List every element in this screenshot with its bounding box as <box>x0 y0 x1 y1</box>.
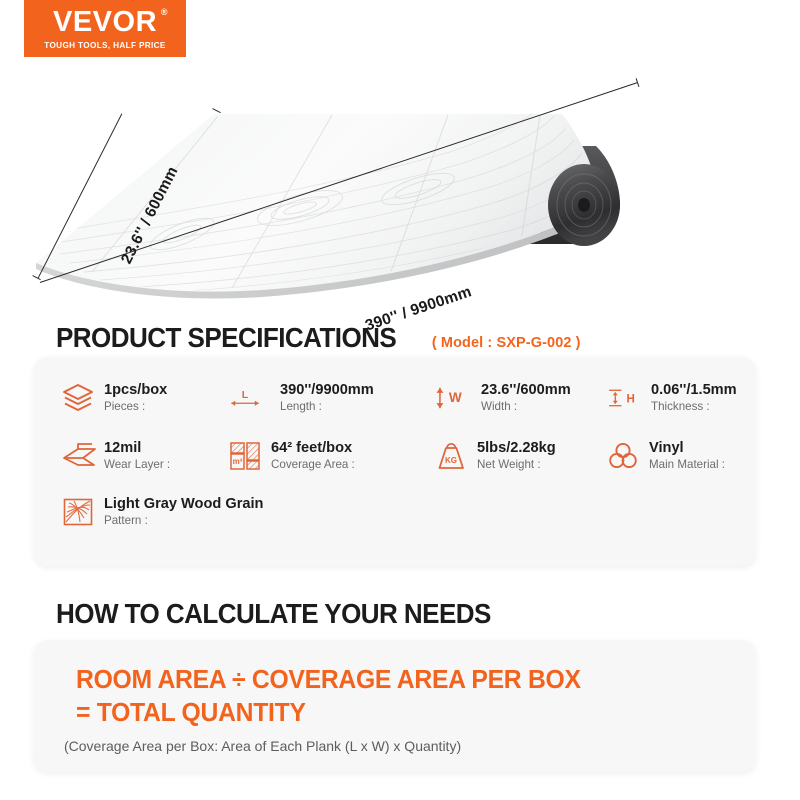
svg-text:H: H <box>627 394 635 406</box>
net-weight-icon: KG <box>434 439 468 473</box>
weight-icon-text: KG <box>445 456 457 465</box>
spec-item-coverage-area: m³ 64² feet/box Coverage Area : <box>228 439 355 473</box>
vinyl-roll-illustration <box>0 58 800 313</box>
thickness-h-icon: H <box>606 381 640 415</box>
spec-label: Pieces : <box>104 399 167 414</box>
spec-label: Pattern : <box>104 513 263 528</box>
svg-text:L: L <box>242 390 249 401</box>
spec-value: 0.06''/1.5mm <box>651 382 737 398</box>
spec-value: Vinyl <box>649 440 725 456</box>
formula-note: (Coverage Area per Box: Area of Each Pla… <box>64 738 461 754</box>
spec-value: 390''/9900mm <box>280 382 374 398</box>
pattern-icon <box>61 495 95 529</box>
spec-value: 12mil <box>104 440 170 456</box>
spec-label: Length : <box>280 399 374 414</box>
spec-value: 1pcs/box <box>104 382 167 398</box>
formula-line-2: = TOTAL QUANTITY <box>76 699 306 728</box>
formula-line-1: ROOM AREA ÷ COVERAGE AREA PER BOX <box>76 666 581 695</box>
material-icon <box>606 439 640 473</box>
brand-name-text: VEVOR <box>53 6 157 38</box>
spec-label: Main Material : <box>649 457 725 472</box>
spec-label: Net Weight : <box>477 457 556 472</box>
width-w-icon: W <box>434 381 468 415</box>
calculate-card: ROOM AREA ÷ COVERAGE AREA PER BOX = TOTA… <box>34 640 756 772</box>
spec-value: 64² feet/box <box>271 440 355 456</box>
spec-value: 23.6''/600mm <box>481 382 571 398</box>
length-l-icon: L <box>228 381 262 415</box>
coverage-icon-text: m³ <box>233 457 243 466</box>
spec-label: Thickness : <box>651 399 737 414</box>
brand-tagline: TOUGH TOOLS, HALF PRICE <box>44 41 165 50</box>
spec-label: Coverage Area : <box>271 457 355 472</box>
spec-item-length: L 390''/9900mm Length : <box>228 381 374 415</box>
spec-item-wear-layer: 12mil Wear Layer : <box>61 439 170 473</box>
spec-item-thickness: H 0.06''/1.5mm Thickness : <box>606 381 737 415</box>
spec-item-pieces: 1pcs/box Pieces : <box>61 381 167 415</box>
spec-label: Width : <box>481 399 571 414</box>
coverage-area-icon: m³ <box>228 439 262 473</box>
brand-name: VEVOR ® <box>53 8 157 37</box>
vevor-logo: VEVOR ® TOUGH TOOLS, HALF PRICE <box>24 0 186 57</box>
calculate-heading-row: HOW TO CALCULATE YOUR NEEDS <box>56 598 524 630</box>
page-title: PRODUCT SPECIFICATIONS <box>56 322 396 354</box>
specifications-card: 1pcs/box Pieces : L 390''/9900mm Length … <box>34 357 756 566</box>
roll-core-hole <box>578 198 590 212</box>
spec-item-main-material: Vinyl Main Material : <box>606 439 725 473</box>
spec-label: Wear Layer : <box>104 457 170 472</box>
specifications-heading-row: PRODUCT SPECIFICATIONS ( Model : SXP-G-0… <box>56 322 581 354</box>
product-hero-image: 23.6'' / 600mm 390'' / 9900mm <box>0 58 800 313</box>
product-spec-page: VEVOR ® TOUGH TOOLS, HALF PRICE <box>0 0 800 800</box>
spec-item-net-weight: KG 5lbs/2.28kg Net Weight : <box>434 439 556 473</box>
spec-value: 5lbs/2.28kg <box>477 440 556 456</box>
model-number-label: ( Model : SXP-G-002 ) <box>432 335 581 351</box>
registered-trademark-icon: ® <box>161 8 168 17</box>
calculate-heading: HOW TO CALCULATE YOUR NEEDS <box>56 598 491 630</box>
layers-icon <box>61 381 95 415</box>
spec-item-pattern: Light Gray Wood Grain Pattern : <box>61 495 263 529</box>
vinyl-sheet <box>36 114 600 292</box>
wear-layer-icon <box>61 439 95 473</box>
spec-item-width: W 23.6''/600mm Width : <box>434 381 571 415</box>
spec-value: Light Gray Wood Grain <box>104 496 263 512</box>
svg-text:W: W <box>449 390 462 405</box>
